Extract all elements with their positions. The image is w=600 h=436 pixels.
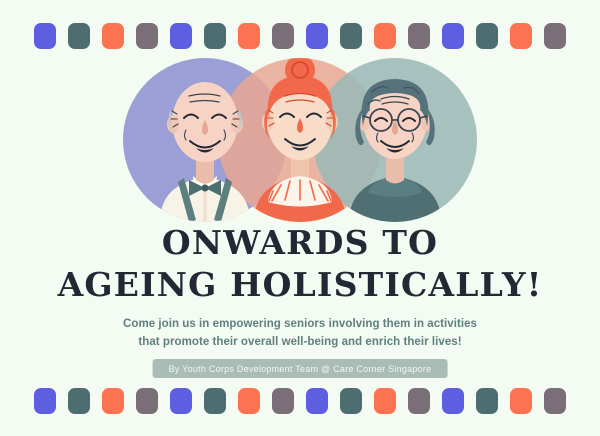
decor-bottom-square-8: [306, 388, 328, 414]
decor-bottom-square-4: [170, 388, 192, 414]
decor-bottom-square-12: [442, 388, 464, 414]
decor-bottom-square-14: [510, 388, 532, 414]
woman-bun-knot: [285, 55, 315, 85]
decor-bottom-square-9: [340, 388, 362, 414]
headline-line-1: ONWARDS TO: [0, 226, 600, 259]
decor-bottom-square-10: [374, 388, 396, 414]
decor-bottom-square-13: [476, 388, 498, 414]
man-bowtie-knot: [202, 185, 209, 192]
subtitle: Come join us in empowering seniors invol…: [80, 316, 520, 352]
decor-bottom-square-1: [68, 388, 90, 414]
woman-glasses-neck: [386, 158, 404, 184]
decor-strip-bottom: [0, 386, 600, 416]
decor-bottom-square-6: [238, 388, 260, 414]
credit-banner: By Youth Corps Development Team @ Care C…: [153, 359, 448, 378]
man-neck: [196, 160, 214, 184]
decor-bottom-square-7: [272, 388, 294, 414]
subtitle-line-2: that promote their overall well-being an…: [80, 334, 520, 352]
poster-canvas: ONWARDS TO AGEING HOLISTICALLY! Come joi…: [0, 0, 600, 436]
decor-bottom-square-3: [136, 388, 158, 414]
decor-bottom-square-0: [34, 388, 56, 414]
credit-text: By Youth Corps Development Team @ Care C…: [169, 364, 432, 374]
decor-bottom-square-11: [408, 388, 430, 414]
decor-bottom-square-2: [102, 388, 124, 414]
subtitle-line-1: Come join us in empowering seniors invol…: [80, 316, 520, 334]
headline-line-2: AGEING HOLISTICALLY!: [0, 268, 600, 301]
decor-bottom-square-15: [544, 388, 566, 414]
decor-bottom-square-5: [204, 388, 226, 414]
